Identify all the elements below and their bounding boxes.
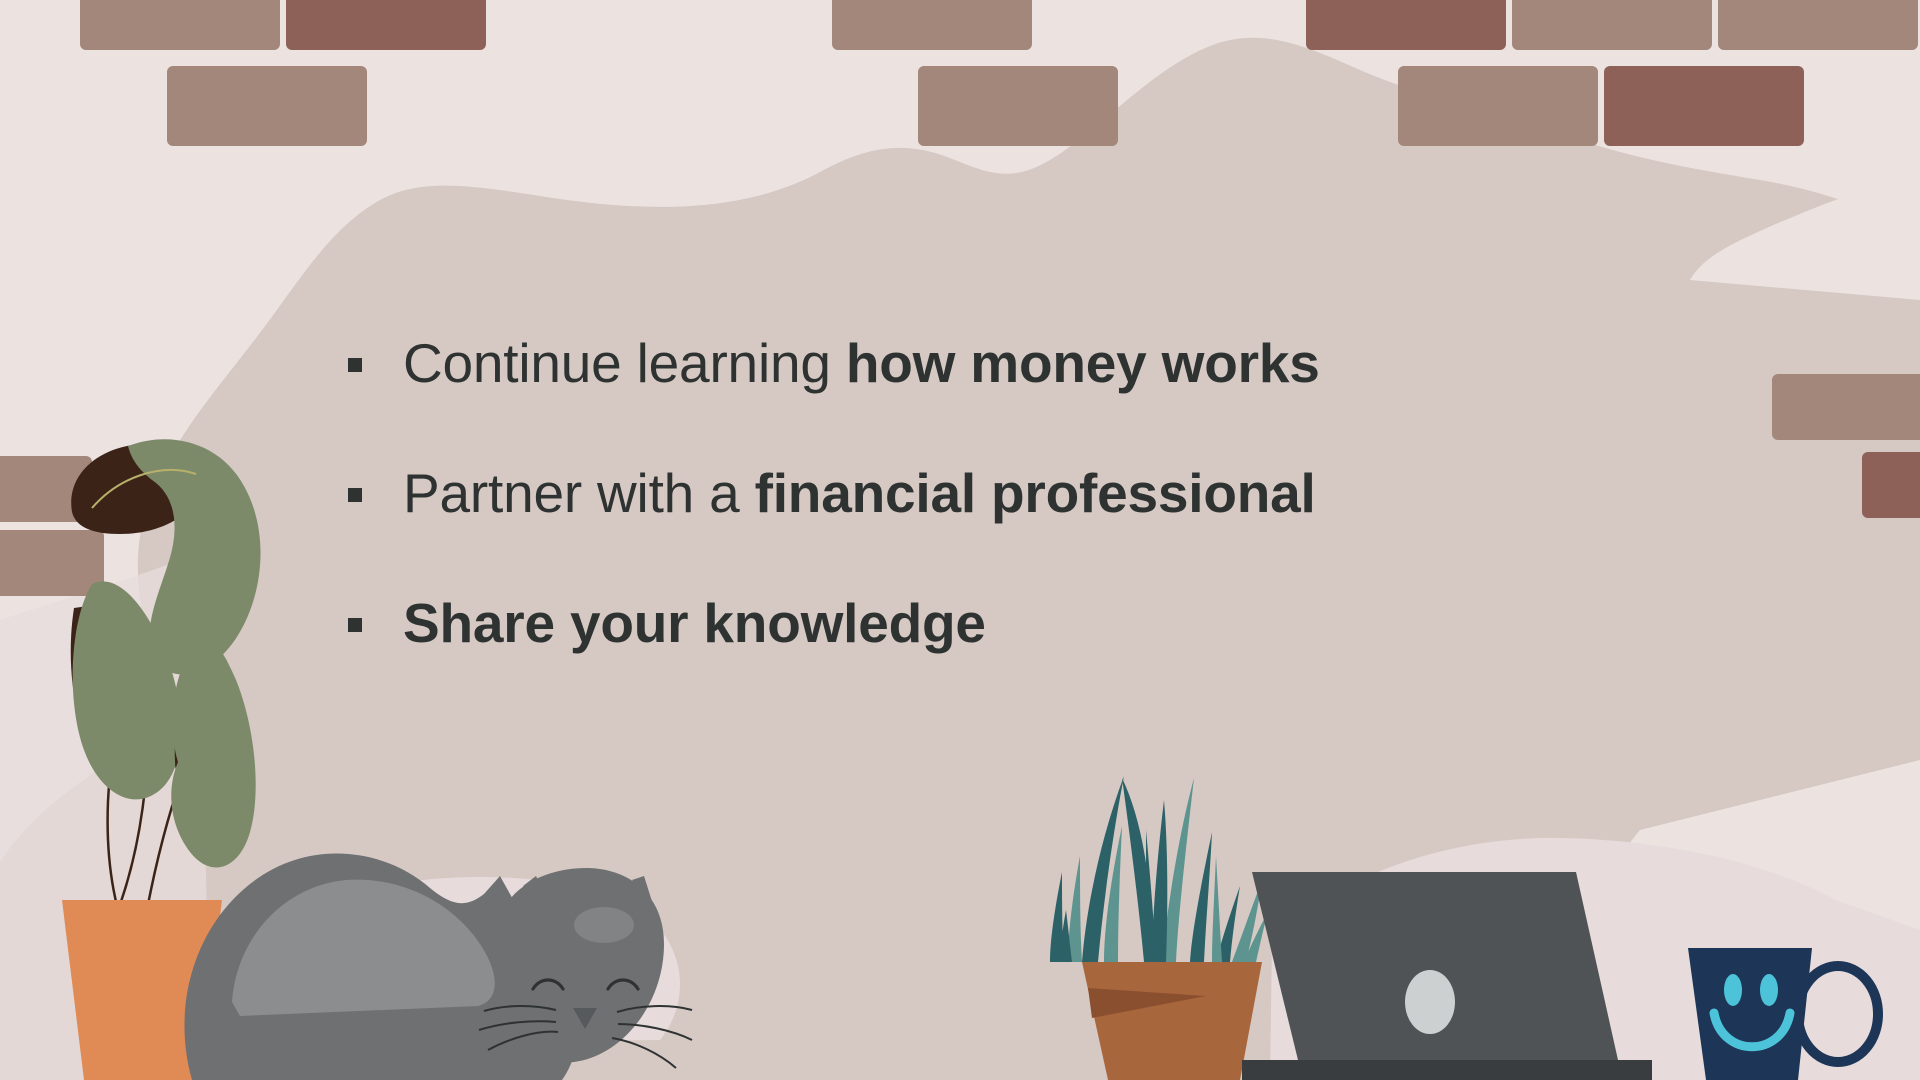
bullet-bold-text: Share your knowledge	[403, 592, 986, 654]
bullet-bold-text: financial professional	[755, 462, 1316, 524]
bullet-list: Continue learning how money works Partne…	[348, 330, 1608, 660]
mug-eye-right	[1760, 974, 1778, 1006]
brick	[1398, 66, 1598, 146]
plant-pot	[1082, 962, 1262, 1080]
square-bullet-icon	[348, 618, 362, 632]
brick	[1512, 0, 1712, 50]
brick	[80, 0, 280, 50]
square-bullet-icon	[348, 488, 362, 502]
mug-eye-left	[1724, 974, 1742, 1006]
bullet-text: Partner with a financial professional	[403, 460, 1316, 526]
list-item: Partner with a financial professional	[348, 460, 1608, 530]
list-item: Share your knowledge	[348, 590, 1608, 660]
bullet-plain-text: Continue learning	[403, 332, 846, 394]
list-item: Continue learning how money works	[348, 330, 1608, 400]
brick	[1772, 374, 1920, 440]
square-bullet-icon	[348, 358, 362, 372]
bullet-bold-text: how money works	[846, 332, 1320, 394]
bullet-text: Continue learning how money works	[403, 330, 1320, 396]
brick	[1862, 452, 1920, 518]
brick	[167, 66, 367, 146]
brick	[832, 0, 1032, 50]
slide-canvas: Continue learning how money works Partne…	[0, 0, 1920, 1080]
laptop-logo	[1405, 970, 1455, 1034]
brick	[918, 66, 1118, 146]
bullet-text: Share your knowledge	[403, 590, 986, 656]
cat-forehead-patch	[574, 907, 634, 943]
laptop-base	[1242, 1060, 1652, 1080]
brick	[1604, 66, 1804, 146]
brick	[1306, 0, 1506, 50]
bullet-plain-text: Partner with a	[403, 462, 755, 524]
brick	[286, 0, 486, 50]
brick	[1718, 0, 1918, 50]
brick	[0, 530, 104, 596]
